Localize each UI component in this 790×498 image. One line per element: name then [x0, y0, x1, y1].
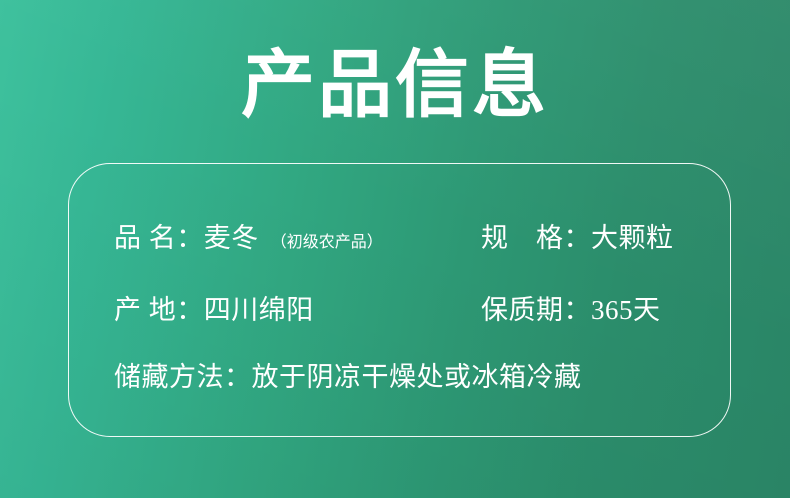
info-value-shelf-life: 365天: [591, 293, 661, 327]
info-card: 品 名： 麦冬 （初级农产品） 规 格： 大颗粒 产 地： 四川绵阳 保质期： …: [68, 163, 731, 437]
info-label-shelf-life: 保质期：: [481, 293, 591, 327]
info-field-product-name: 品 名： 麦冬 （初级农产品）: [114, 221, 383, 260]
info-value-origin: 四川绵阳: [204, 293, 314, 327]
info-rows: 品 名： 麦冬 （初级农产品） 规 格： 大颗粒 产 地： 四川绵阳 保质期： …: [69, 164, 730, 436]
info-label-specification: 规 格：: [481, 221, 591, 255]
info-value-storage-method: 放于阴凉干燥处或冰箱冷藏: [252, 362, 582, 392]
page-title: 产品信息: [0, 42, 790, 130]
product-info-poster: 产品信息 品 名： 麦冬 （初级农产品） 规 格： 大颗粒 产 地： 四川绵阳: [0, 0, 790, 498]
info-value-specification: 大颗粒: [591, 221, 674, 255]
info-field-storage-method: 储藏方法：放于阴凉干燥处或冰箱冷藏: [114, 360, 582, 394]
info-label-product-name: 品 名：: [114, 221, 204, 255]
info-label-storage-method: 储藏方法：: [114, 362, 252, 392]
info-note-product-name: （初级农产品）: [271, 226, 383, 260]
info-field-origin: 产 地： 四川绵阳: [114, 293, 314, 327]
info-label-origin: 产 地：: [114, 293, 204, 327]
info-field-shelf-life: 保质期： 365天: [481, 293, 661, 327]
info-value-product-name: 麦冬: [204, 221, 259, 255]
info-field-specification: 规 格： 大颗粒: [481, 221, 674, 255]
